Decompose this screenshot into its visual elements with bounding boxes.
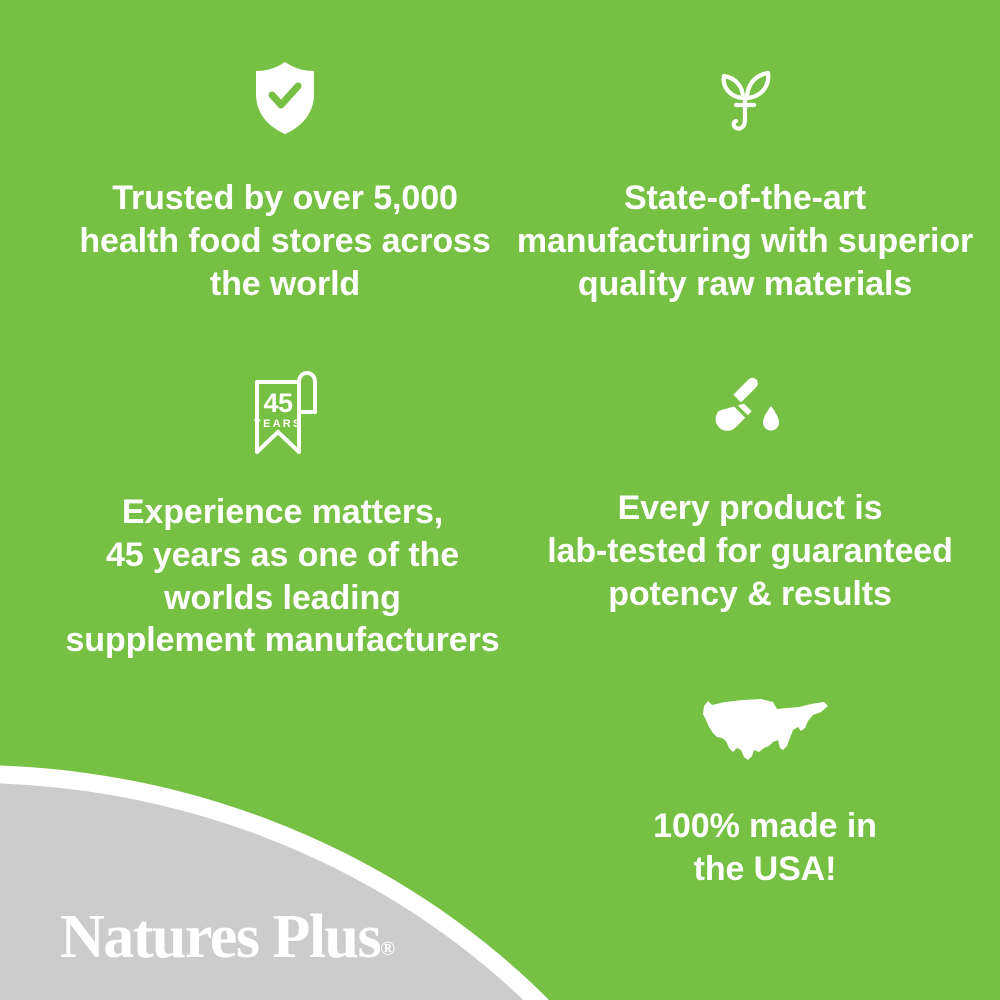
feature-experience: 45 YEARS Experience matters, 45 years as… [35,370,530,662]
feature-labtested-text: Every product is lab-tested for guarante… [505,487,995,615]
registered-mark: ® [380,938,395,960]
feature-manufacturing: State-of-the-art manufacturing with supe… [500,60,990,305]
feature-trusted: Trusted by over 5,000 health food stores… [40,60,530,305]
feature-experience-text: Experience matters, 45 years as one of t… [35,491,530,662]
feature-usa: 100% made in the USA! [555,690,975,891]
brand-logo: Natures Plus® [60,902,395,973]
brand-logo-text: Natures Plus [60,903,380,971]
feature-trusted-text: Trusted by over 5,000 health food stores… [40,177,530,305]
sprout-icon [500,60,990,141]
feature-labtested: Every product is lab-tested for guarante… [505,370,995,615]
feature-usa-text: 100% made in the USA! [555,805,975,891]
usa-map-icon [555,690,975,775]
promo-graphic: Trusted by over 5,000 health food stores… [0,0,1000,1000]
feature-manufacturing-text: State-of-the-art manufacturing with supe… [500,177,990,305]
banner-number: 45 [263,388,293,418]
banner-caption: YEARS [253,418,302,430]
shield-check-icon [40,60,530,141]
45-years-banner-icon: 45 YEARS [35,370,530,465]
test-tube-droplet-icon [505,370,995,455]
